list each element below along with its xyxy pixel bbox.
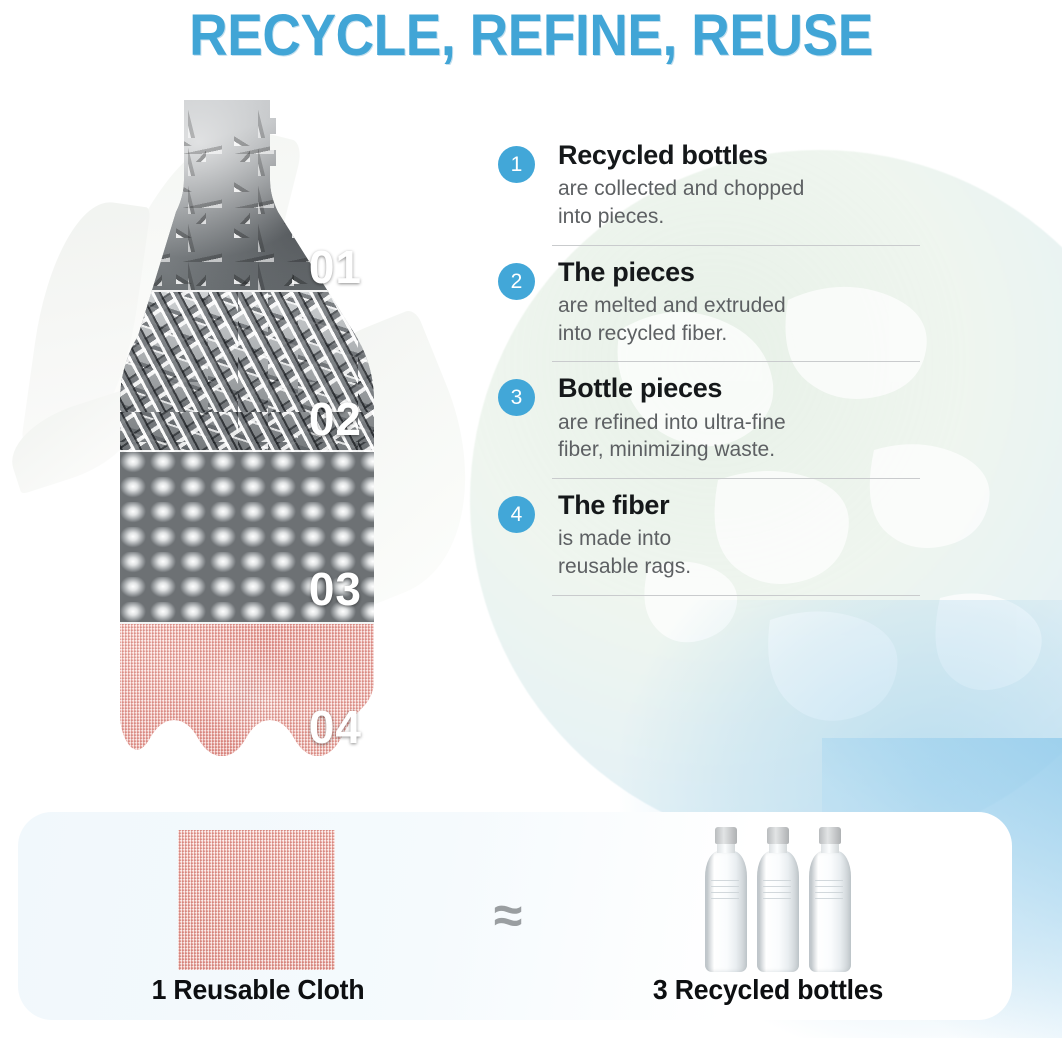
step-body-4: is made into reusable rags. bbox=[558, 525, 928, 580]
cloth-side: 1 Reusable Cloth bbox=[58, 812, 458, 1020]
step-title-2: The pieces bbox=[558, 257, 928, 287]
bottle-segment-number-03: 03 bbox=[309, 562, 362, 616]
step-divider-2 bbox=[552, 361, 920, 362]
step-divider-3 bbox=[552, 478, 920, 479]
segment-divider bbox=[118, 450, 386, 452]
step-title-3: Bottle pieces bbox=[558, 373, 928, 403]
bottle-segment-number-01: 01 bbox=[309, 240, 362, 294]
step-item-1: 1 Recycled bottles are collected and cho… bbox=[498, 140, 928, 239]
recycled-bottle-icon bbox=[703, 827, 749, 972]
step-number-badge-4: 4 bbox=[498, 496, 535, 533]
bottle-segment-number-02: 02 bbox=[309, 392, 362, 446]
bottles-label: 3 Recycled bottles bbox=[569, 974, 968, 1006]
bottle-diagram: 01 02 03 04 bbox=[118, 100, 386, 790]
step-title-1: Recycled bottles bbox=[558, 140, 928, 170]
recycled-bottle-icon bbox=[807, 827, 853, 972]
cloth-label: 1 Reusable Cloth bbox=[68, 974, 448, 1006]
step-item-4: 4 The fiber is made into reusable rags. bbox=[498, 490, 928, 589]
recycled-bottle-icon bbox=[755, 827, 801, 972]
step-number-badge-3: 3 bbox=[498, 379, 535, 416]
bottle-segment-number-04: 04 bbox=[309, 700, 362, 754]
step-body-3: are refined into ultra-fine fiber, minim… bbox=[558, 409, 928, 464]
step-number-badge-1: 1 bbox=[498, 146, 535, 183]
infographic-page: RECYCLE, REFINE, REUSE 01 02 03 04 bbox=[0, 0, 1062, 1038]
equivalence-panel: 1 Reusable Cloth ≈ 3 Recycled bottles bbox=[18, 812, 1012, 1020]
page-title: RECYCLE, REFINE, REUSE bbox=[42, 2, 1019, 69]
process-steps-list: 1 Recycled bottles are collected and cho… bbox=[498, 140, 928, 589]
step-item-3: 3 Bottle pieces are refined into ultra-f… bbox=[498, 373, 928, 472]
approximately-equal-icon: ≈ bbox=[473, 890, 543, 942]
step-item-2: 2 The pieces are melted and extruded int… bbox=[498, 257, 928, 356]
step-divider-4 bbox=[552, 595, 920, 596]
step-number-badge-2: 2 bbox=[498, 263, 535, 300]
bottles-side: 3 Recycled bottles bbox=[558, 812, 978, 1020]
reusable-cloth-swatch bbox=[178, 830, 335, 970]
segment-divider bbox=[118, 622, 386, 624]
recycled-bottles-row bbox=[703, 822, 903, 972]
step-divider-1 bbox=[552, 245, 920, 246]
step-title-4: The fiber bbox=[558, 490, 928, 520]
step-body-1: are collected and chopped into pieces. bbox=[558, 175, 928, 230]
step-body-2: are melted and extruded into recycled fi… bbox=[558, 292, 928, 347]
